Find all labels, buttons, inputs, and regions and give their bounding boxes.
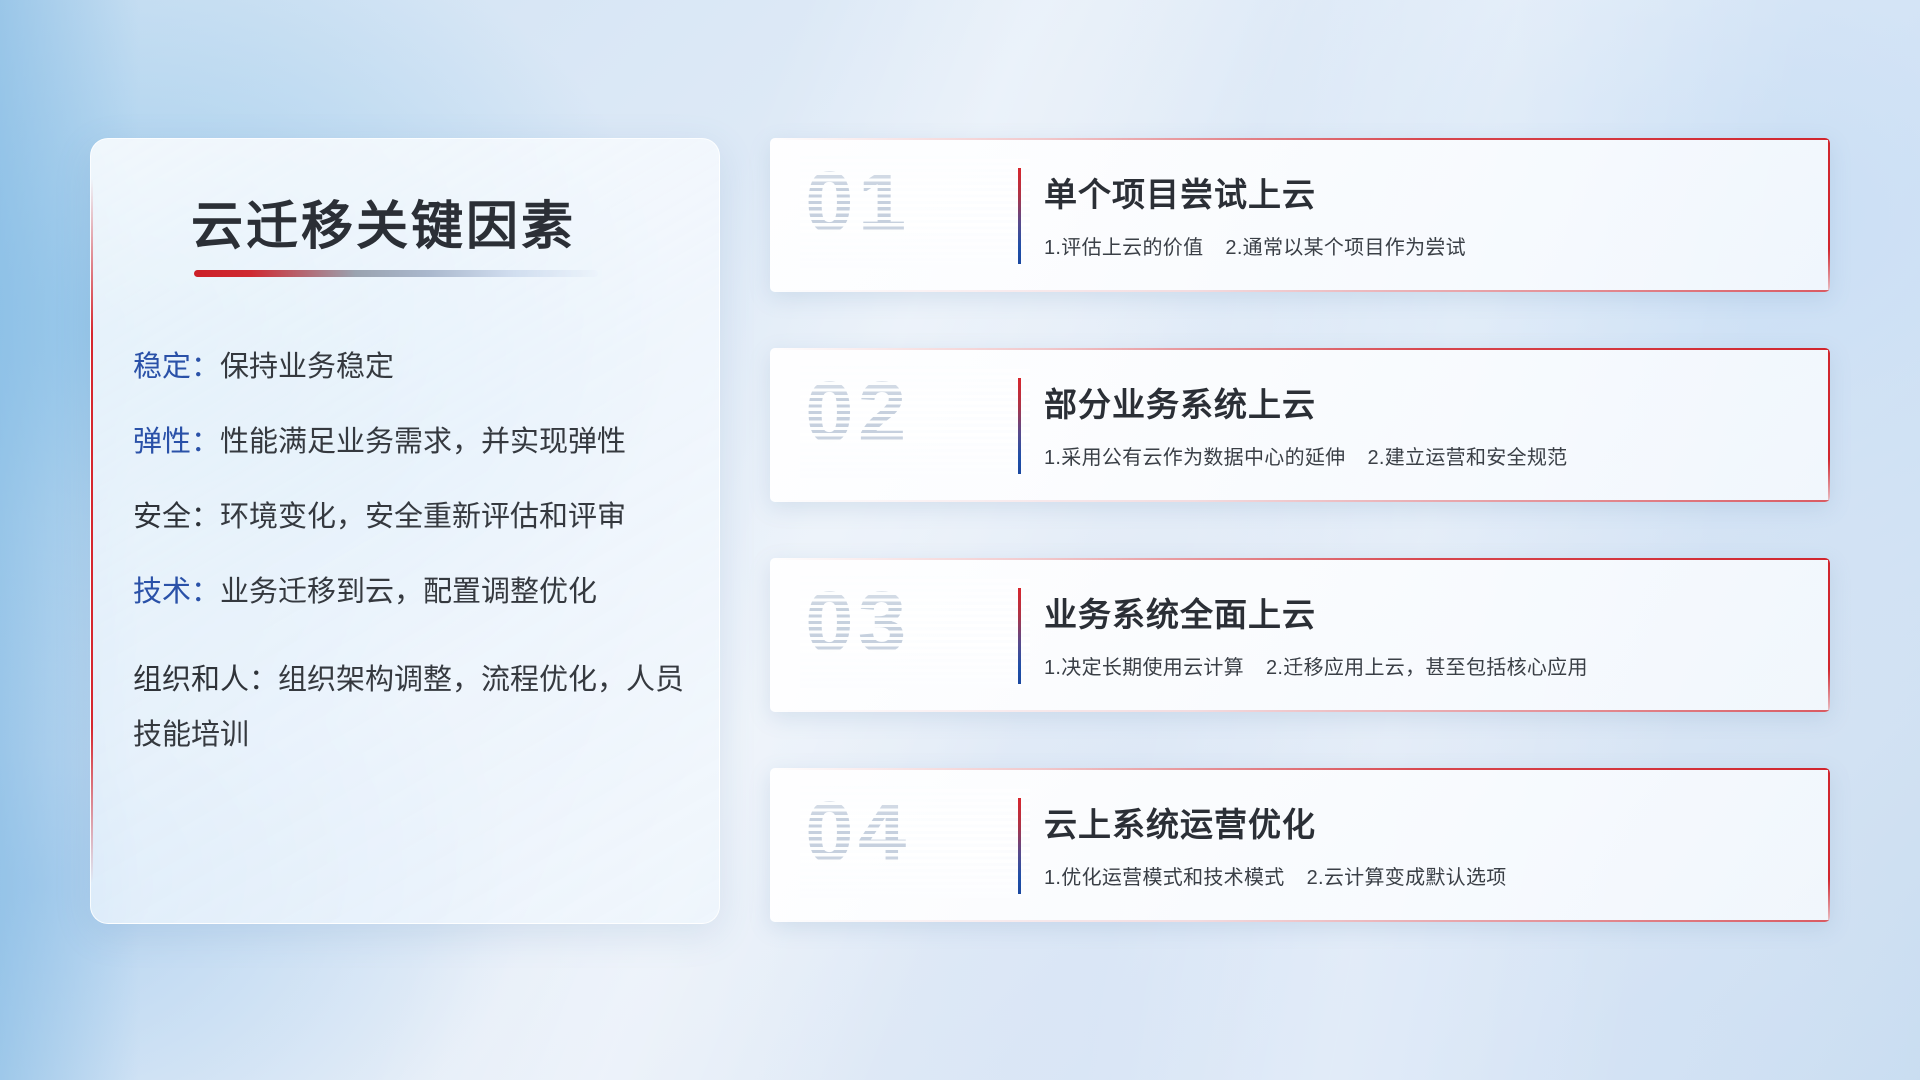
card-top-accent-line (770, 768, 1830, 770)
panel-left-accent-bar (91, 179, 93, 883)
card-divider-bar (1018, 168, 1021, 264)
factor-text: 业务迁移到云，配置调整优化 (220, 576, 597, 608)
stage-points: 1.决定长期使用云计算2.迁移应用上云，甚至包括核心应用 (1044, 651, 1588, 680)
slide-canvas: 云迁移关键因素 稳定：保持业务稳定 弹性：性能满足业务需求，并实现弹性 安全：环… (0, 0, 1920, 1080)
stage-points: 1.优化运营模式和技术模式2.云计算变成默认选项 (1044, 861, 1507, 890)
factor-item-stability: 稳定：保持业务稳定 (133, 353, 693, 382)
stage-number: 04 (806, 790, 911, 874)
stage-point-1: 1.决定长期使用云计算 (1044, 657, 1244, 679)
stage-points: 1.采用公有云作为数据中心的延伸2.建立运营和安全规范 (1044, 441, 1567, 470)
key-factors-panel: 云迁移关键因素 稳定：保持业务稳定 弹性：性能满足业务需求，并实现弹性 安全：环… (90, 138, 720, 924)
card-divider-bar (1018, 378, 1021, 474)
card-bottom-accent-line (770, 920, 1830, 922)
factor-label: 稳定： (133, 351, 220, 383)
stage-number: 02 (806, 370, 911, 454)
stage-point-1: 1.优化运营模式和技术模式 (1044, 867, 1285, 889)
stage-title: 单个项目尝试上云 (1044, 168, 1316, 216)
card-top-accent-line (770, 138, 1830, 140)
card-top-accent-line (770, 348, 1830, 350)
card-right-accent-line (1828, 558, 1830, 712)
stage-number: 01 (806, 160, 911, 244)
factor-text: 性能满足业务需求，并实现弹性 (220, 426, 626, 458)
stage-card-02[interactable]: 02 部分业务系统上云 1.采用公有云作为数据中心的延伸2.建立运营和安全规范 (770, 348, 1830, 502)
card-divider-bar (1018, 588, 1021, 684)
factor-text: 保持业务稳定 (220, 351, 394, 383)
card-bottom-accent-line (770, 500, 1830, 502)
card-right-accent-line (1828, 138, 1830, 292)
stage-card-03[interactable]: 03 业务系统全面上云 1.决定长期使用云计算2.迁移应用上云，甚至包括核心应用 (770, 558, 1830, 712)
card-divider-bar (1018, 798, 1021, 894)
stage-point-1: 1.评估上云的价值 (1044, 237, 1203, 259)
stage-number: 03 (806, 580, 911, 664)
factor-item-organization-and-people: 组织和人：组织架构调整，流程优化，人员技能培训 (133, 653, 693, 763)
stage-point-2: 2.迁移应用上云，甚至包括核心应用 (1266, 657, 1588, 679)
stage-point-2: 2.通常以某个项目作为尝试 (1225, 237, 1466, 259)
stage-point-1: 1.采用公有云作为数据中心的延伸 (1044, 447, 1345, 469)
factor-item-security: 安全：环境变化，安全重新评估和评审 (133, 503, 693, 532)
factor-text: 环境变化，安全重新评估和评审 (220, 501, 626, 533)
stage-title: 部分业务系统上云 (1044, 378, 1316, 426)
stage-point-2: 2.建立运营和安全规范 (1367, 447, 1567, 469)
migration-stage-cards: 01 单个项目尝试上云 1.评估上云的价值2.通常以某个项目作为尝试 02 部分… (770, 138, 1830, 978)
page-title: 云迁移关键因素 (191, 184, 576, 259)
stage-card-04[interactable]: 04 云上系统运营优化 1.优化运营模式和技术模式2.云计算变成默认选项 (770, 768, 1830, 922)
stage-card-01[interactable]: 01 单个项目尝试上云 1.评估上云的价值2.通常以某个项目作为尝试 (770, 138, 1830, 292)
stage-points: 1.评估上云的价值2.通常以某个项目作为尝试 (1044, 231, 1466, 260)
card-bottom-accent-line (770, 290, 1830, 292)
factor-item-technology: 技术：业务迁移到云，配置调整优化 (133, 578, 693, 607)
card-bottom-accent-line (770, 710, 1830, 712)
stage-title: 业务系统全面上云 (1044, 588, 1316, 636)
card-right-accent-line (1828, 348, 1830, 502)
factor-label: 组织和人： (133, 664, 278, 696)
factor-label: 技术： (133, 576, 220, 608)
card-top-accent-line (770, 558, 1830, 560)
card-right-accent-line (1828, 768, 1830, 922)
factor-label: 弹性： (133, 426, 220, 458)
stage-point-2: 2.云计算变成默认选项 (1307, 867, 1507, 889)
title-underline-gradient (194, 270, 598, 277)
factor-label: 安全： (133, 501, 220, 533)
factor-item-elasticity: 弹性：性能满足业务需求，并实现弹性 (133, 428, 693, 457)
factor-list: 稳定：保持业务稳定 弹性：性能满足业务需求，并实现弹性 安全：环境变化，安全重新… (133, 353, 693, 809)
stage-title: 云上系统运营优化 (1044, 798, 1316, 846)
